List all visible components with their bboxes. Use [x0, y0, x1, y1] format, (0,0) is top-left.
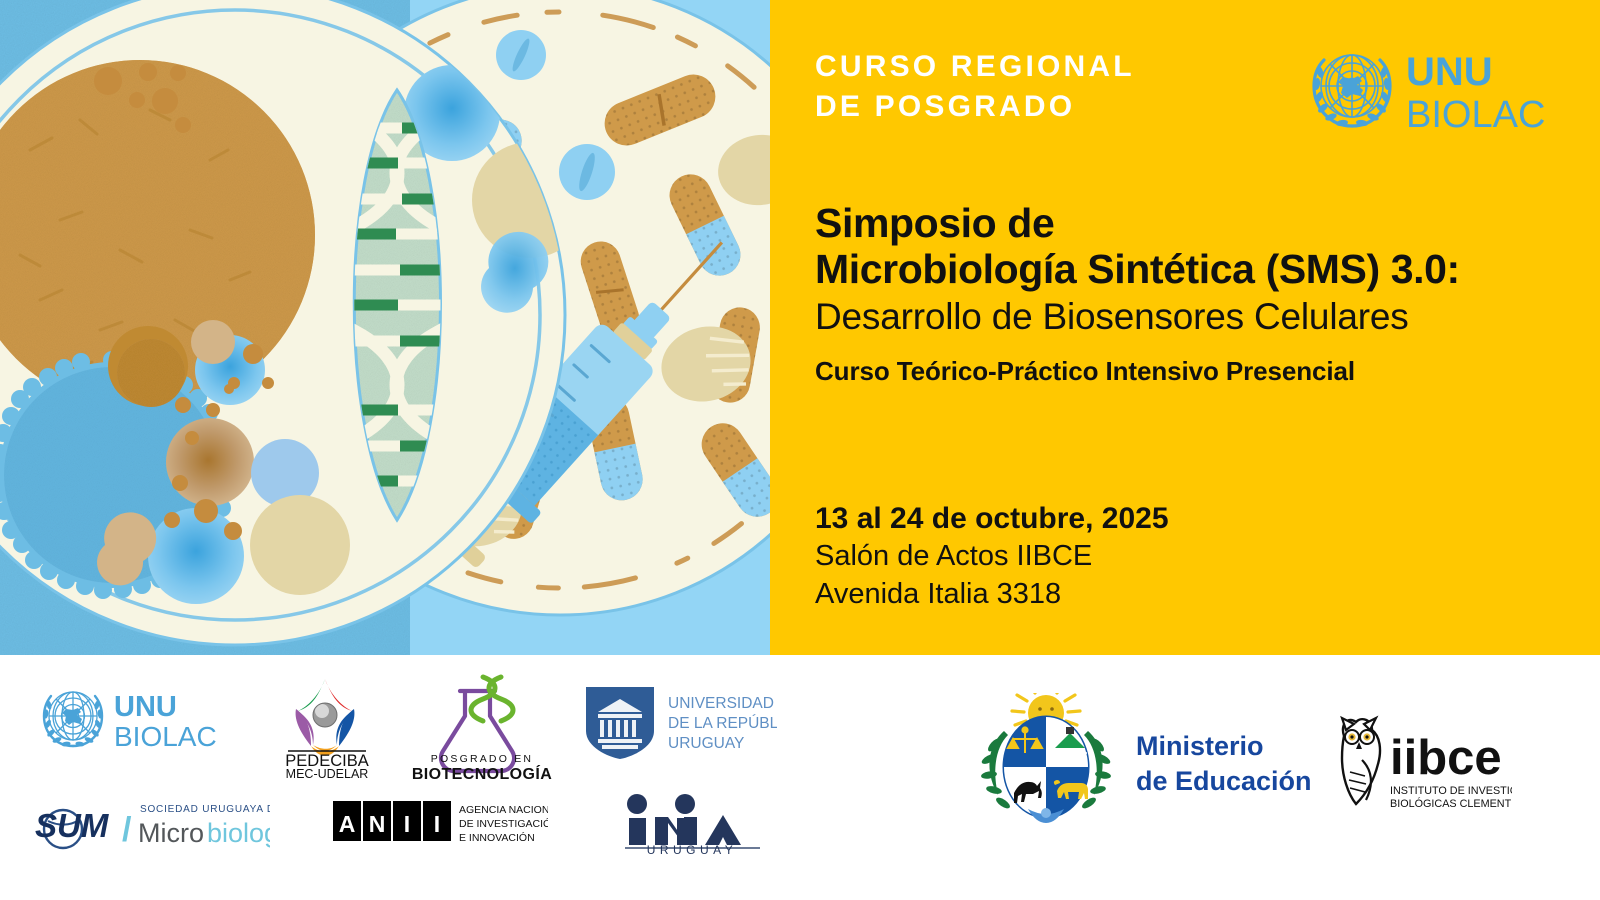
footer-unu-biolac-logo: UNU BIOLAC [38, 682, 223, 752]
tablet [559, 144, 615, 200]
footer-biotecnologia-logo: POSGRADO EN BIOTECNOLOGÍA [395, 669, 570, 781]
iibce-wordmark: iibce [1390, 731, 1502, 785]
subtitle: Desarrollo de Biosensores Celulares [815, 295, 1575, 339]
iibce-line-2: BIOLÓGICAS CLEMENTE ESTABLE [1390, 797, 1512, 810]
kicker-line-2: DE POSGRADO [815, 87, 1285, 127]
footer-sum-microbiologia-logo: SUM / SOCIEDAD URUGUAYA DE Micro biologí… [30, 795, 270, 853]
anii-line-1: AGENCIA NACIONAL [459, 804, 548, 816]
inia-subtitle: URUGUAY [647, 843, 738, 855]
yellow-info-panel: CURSO REGIONAL DE POSGRADO [770, 0, 1600, 655]
udelar-line-2: DE LA REPÚBLICA [668, 715, 777, 732]
biologia-word: biología [207, 818, 270, 848]
anii-mark: A N I I [333, 801, 451, 841]
biolac-wordmark: BIOLAC [114, 721, 217, 752]
unu-biolac-logo-header: UNU BIOLAC [1306, 42, 1552, 134]
illustration-artwork [0, 0, 770, 655]
udelar-line-1: UNIVERSIDAD [668, 695, 774, 712]
svg-text:I: I [404, 811, 410, 837]
kicker-line-1: CURSO REGIONAL [815, 47, 1285, 87]
svg-text:A: A [339, 811, 356, 837]
footer-udelar-logo: UNIVERSIDAD DE LA REPÚBLICA URUGUAY [582, 685, 777, 763]
bacterial-colony [148, 508, 244, 604]
sum-kicker: SOCIEDAD URUGUAYA DE [140, 804, 270, 815]
biotecnologia-wordmark: BIOTECNOLOGÍA [412, 764, 552, 781]
event-address: Avenida Italia 3318 [815, 576, 1415, 613]
udelar-shield-icon [586, 687, 654, 759]
anii-line-2: DE INVESTIGACIÓN [459, 817, 548, 830]
event-venue: Salón de Actos IIBCE [815, 538, 1415, 575]
event-details: 13 al 24 de octubre, 2025 Salón de Actos… [815, 500, 1415, 613]
pedeciba-star-icon [296, 679, 355, 756]
bacterial-colony [166, 418, 254, 506]
anii-line-3: E INNOVACIÓN [459, 831, 535, 844]
event-date: 13 al 24 de octubre, 2025 [815, 500, 1415, 538]
sum-mark: SUM [35, 807, 110, 848]
sponsor-footer: UNU BIOLAC [0, 655, 1600, 900]
bacterial-colony [117, 339, 185, 407]
top-band: CURSO REGIONAL DE POSGRADO [0, 0, 1600, 655]
owl-icon [1342, 718, 1380, 804]
footer-ministerio-logo: Ministerio de Educación y Cultura [958, 693, 1318, 823]
course-kind: Curso Teórico-Práctico Intensivo Presenc… [815, 356, 1575, 387]
unu-wordmark: UNU [114, 691, 177, 723]
bacterial-colony [191, 320, 235, 364]
illustration-panel [0, 0, 770, 655]
footer-pedeciba-logo: PEDECIBA MEC-UDELAR [266, 671, 386, 779]
udelar-line-3: URUGUAY [668, 735, 744, 752]
footer-inia-logo: URUGUAY [615, 793, 770, 855]
illustration-scene [0, 0, 770, 655]
svg-text:SUM: SUM [35, 807, 110, 844]
footer-anii-logo: A N I I AGENCIA NACIONAL DE INVESTIGACIÓ… [333, 797, 548, 849]
slash-divider: / [122, 811, 132, 849]
biolac-wordmark: BIOLAC [1406, 94, 1545, 134]
svg-text:I: I [434, 811, 440, 837]
title-line-2: Microbiología Sintética (SMS) 3.0: [815, 246, 1575, 292]
ministerio-line-2: de Educación y Cultura [1136, 766, 1318, 796]
uruguay-coat-of-arms-icon [980, 693, 1111, 823]
footer-iibce-logo: iibce INSTITUTO DE INVESTIGACIONES BIOLÓ… [1322, 710, 1512, 815]
course-kicker: CURSO REGIONAL DE POSGRADO [815, 47, 1285, 127]
poster-root: CURSO REGIONAL DE POSGRADO [0, 0, 1600, 900]
micro-word: Micro [138, 818, 204, 848]
bacterial-colony [250, 495, 350, 595]
title-block: Simposio de Microbiología Sintética (SMS… [815, 200, 1575, 388]
title-line-1: Simposio de [815, 200, 1575, 246]
pedeciba-subtitle: MEC-UDELAR [286, 767, 369, 779]
posgrado-kicker: POSGRADO EN [431, 753, 533, 765]
svg-text:N: N [369, 811, 386, 837]
ministerio-line-1: Ministerio [1136, 731, 1264, 761]
inia-mark [627, 794, 741, 845]
unu-wordmark: UNU [1406, 50, 1493, 94]
tablet [496, 30, 546, 80]
iibce-line-1: INSTITUTO DE INVESTIGACIONES [1390, 785, 1512, 797]
